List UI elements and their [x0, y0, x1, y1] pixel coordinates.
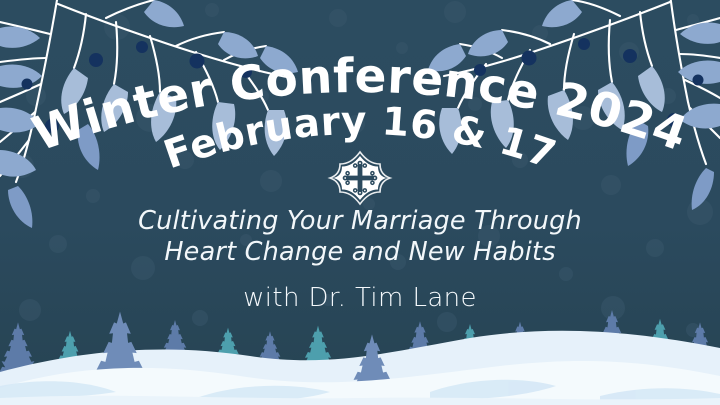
winter-landscape — [0, 0, 720, 405]
winter-conference-poster: Winter Conference 2024 February 16 & 17 — [0, 0, 720, 405]
